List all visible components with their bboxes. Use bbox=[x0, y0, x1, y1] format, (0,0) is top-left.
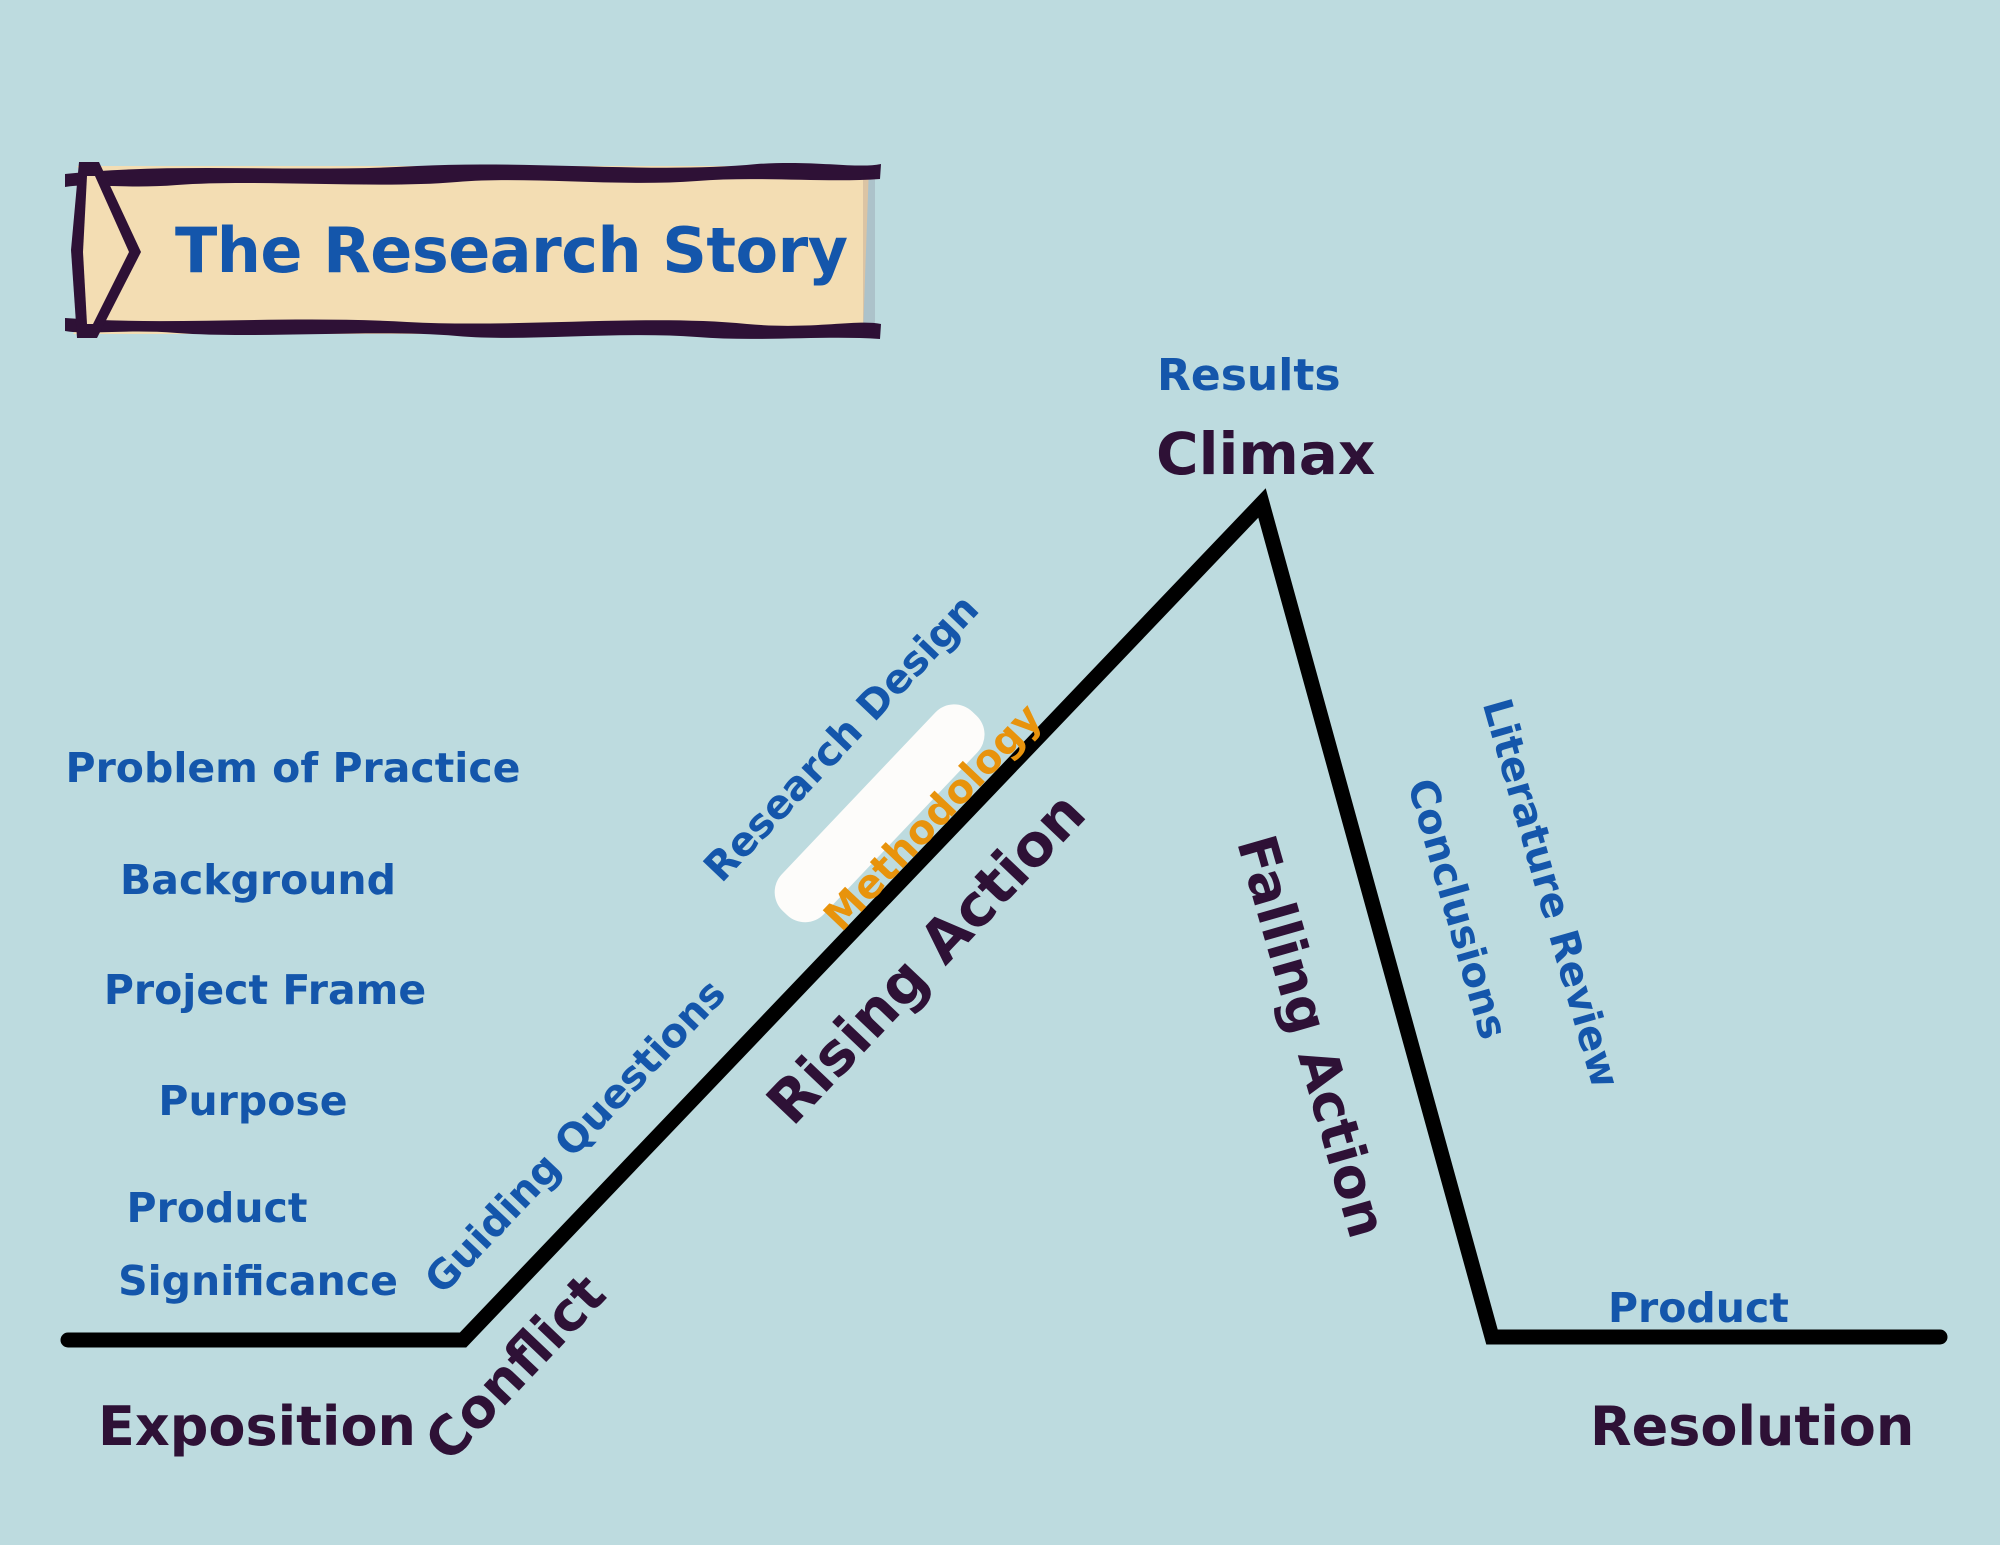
research-story-diagram: The Research Story Problem of Practice B… bbox=[0, 0, 2000, 1545]
exposition-item-project-frame: Project Frame bbox=[104, 970, 426, 1011]
exposition-item-background: Background bbox=[120, 860, 396, 901]
climax-label-results: Results bbox=[1157, 354, 1341, 398]
exposition-item-problem-of-practice: Problem of Practice bbox=[66, 748, 521, 789]
exposition-item-significance: Significance bbox=[118, 1261, 398, 1302]
stage-label-climax: Climax bbox=[1156, 425, 1375, 483]
stage-label-resolution: Resolution bbox=[1590, 1400, 1914, 1454]
exposition-item-product: Product bbox=[127, 1188, 308, 1229]
exposition-item-purpose: Purpose bbox=[158, 1081, 347, 1122]
resolution-label-product: Product bbox=[1608, 1288, 1789, 1329]
stage-label-exposition: Exposition bbox=[98, 1400, 416, 1454]
